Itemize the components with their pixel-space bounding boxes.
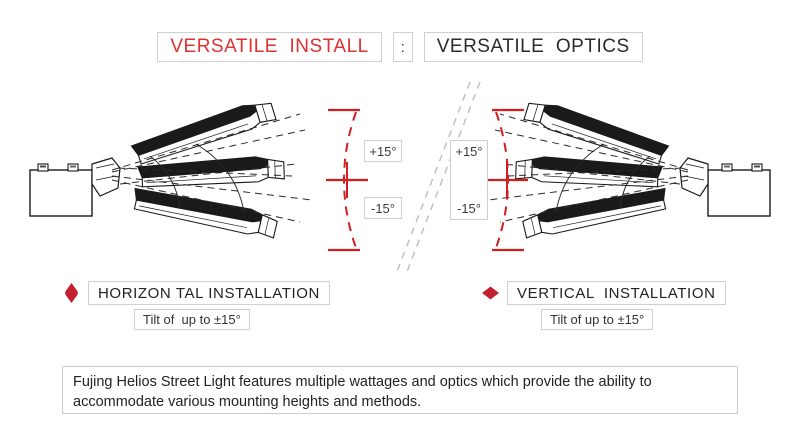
right-angle-plus-label: +15°: [451, 144, 487, 159]
right-installation-assembly: [488, 98, 770, 241]
header-versatile-install: VERSATILE INSTALL: [157, 32, 381, 62]
product-description: Fujing Helios Street Light features mult…: [62, 366, 738, 414]
vertical-installation-title: VERTICAL INSTALLATION: [507, 281, 726, 305]
product-diagram-page: VERSATILE INSTALL : VERSATILE OPTICS: [0, 0, 800, 443]
left-angle-minus-label: -15°: [364, 197, 402, 219]
right-pole: [708, 164, 770, 216]
installation-diagram: [0, 72, 800, 272]
left-right-arrow-icon: [481, 282, 500, 304]
header-separator: :: [393, 32, 413, 62]
right-angle-label-stack: +15° -15°: [450, 140, 488, 220]
header-versatile-optics: VERSATILE OPTICS: [424, 32, 643, 62]
left-angle-marker: [326, 110, 368, 250]
vertical-tilt-note: Tilt of up to ±15°: [541, 309, 653, 330]
horizontal-installation-title: HORIZON TAL INSTALLATION: [88, 281, 330, 305]
left-pole: [30, 164, 92, 216]
right-head-tilt-down: [521, 183, 669, 241]
left-installation-assembly: [30, 98, 312, 241]
up-down-arrow-icon: [62, 282, 81, 304]
right-head-level: [516, 156, 663, 187]
horizontal-installation-caption: HORIZON TAL INSTALLATION Tilt of up to ±…: [62, 281, 330, 330]
right-angle-marker: [486, 110, 528, 250]
right-angle-minus-label: -15°: [451, 201, 487, 216]
left-head-level: [138, 156, 285, 187]
header-row: VERSATILE INSTALL : VERSATILE OPTICS: [0, 30, 800, 64]
left-head-tilt-down: [130, 183, 278, 241]
right-head-tilt-up: [523, 98, 670, 166]
left-angle-plus-label: +15°: [364, 140, 402, 162]
left-head-tilt-up: [130, 98, 277, 166]
horizontal-tilt-note: Tilt of up to ±15°: [134, 309, 250, 330]
vertical-installation-caption: VERTICAL INSTALLATION Tilt of up to ±15°: [481, 281, 726, 330]
right-mounting-knuckle: [680, 158, 708, 196]
left-mounting-knuckle: [92, 158, 120, 196]
